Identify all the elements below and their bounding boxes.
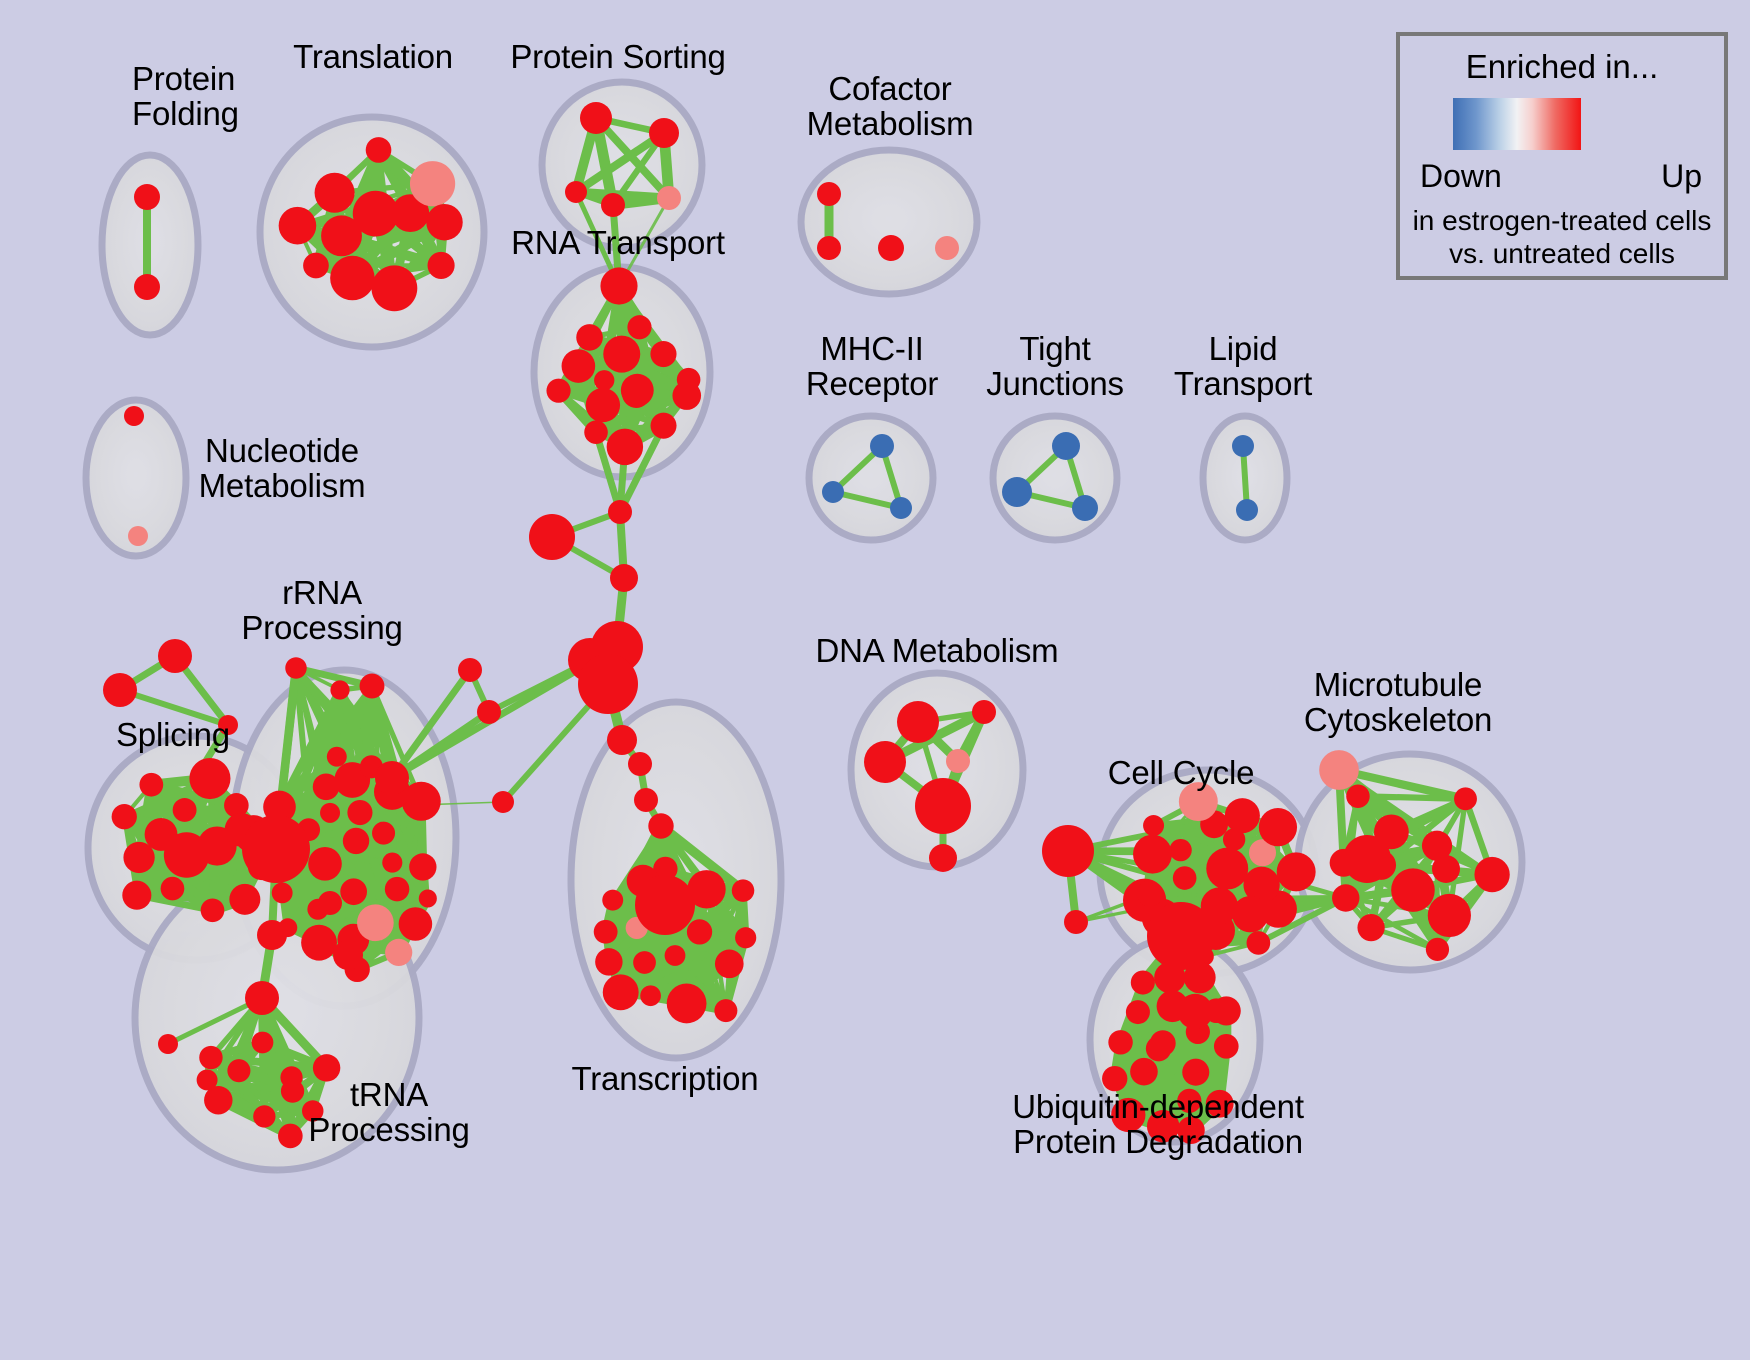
network-node (360, 674, 385, 699)
network-node (409, 853, 436, 880)
network-node (578, 654, 638, 714)
network-figure: ProteinFoldingTranslationProtein Sorting… (0, 0, 1750, 1360)
network-node (385, 939, 412, 966)
network-node (1277, 852, 1316, 891)
network-node (382, 853, 402, 873)
network-node (1052, 432, 1080, 460)
network-node (610, 564, 638, 592)
network-node (584, 420, 608, 444)
network-node (103, 673, 137, 707)
network-node (878, 235, 904, 261)
network-node (321, 215, 362, 256)
network-node (320, 803, 340, 823)
network-node (628, 752, 652, 776)
network-node (1206, 848, 1248, 890)
network-node (330, 256, 375, 301)
cluster-label-ubiquitin: Ubiquitin-dependentProtein Degradation (1012, 1090, 1304, 1160)
network-node (189, 758, 230, 799)
network-node (375, 761, 409, 795)
network-node (303, 253, 329, 279)
network-node (385, 877, 410, 902)
network-node (1130, 1058, 1158, 1086)
cluster-label-transcription: Transcription (572, 1062, 759, 1097)
network-node (399, 907, 433, 941)
network-node (935, 236, 959, 260)
legend-high-label: Up (1661, 158, 1702, 195)
network-node (1225, 798, 1260, 833)
network-node (1247, 931, 1271, 955)
network-node (315, 173, 355, 213)
network-node (732, 879, 754, 901)
network-node (602, 890, 623, 911)
cluster-hull (993, 416, 1117, 540)
network-node (633, 951, 656, 974)
network-node (870, 434, 894, 458)
network-node (1428, 894, 1471, 937)
network-node (565, 181, 587, 203)
network-node (158, 1034, 178, 1054)
cluster-hull (809, 416, 933, 540)
network-node (1133, 835, 1172, 874)
network-node (357, 904, 394, 941)
network-node (529, 514, 575, 560)
network-node (242, 815, 310, 883)
network-node (1169, 839, 1191, 861)
network-node (1108, 1030, 1132, 1054)
network-node (318, 891, 342, 915)
network-node (1236, 499, 1258, 521)
network-node (665, 945, 686, 966)
network-node (1173, 866, 1197, 890)
network-node (308, 847, 342, 881)
cluster-label-tight-junctions: TightJunctions (986, 332, 1124, 402)
network-node (134, 184, 160, 210)
network-node (1214, 1034, 1239, 1059)
network-node (1042, 825, 1094, 877)
network-node (1212, 996, 1241, 1025)
network-node (1474, 857, 1509, 892)
network-node (257, 920, 287, 950)
edge (1358, 796, 1466, 799)
network-node (410, 161, 455, 206)
network-node (1332, 884, 1359, 911)
network-node (428, 252, 455, 279)
network-node (492, 791, 514, 813)
network-node (595, 948, 622, 975)
network-node (158, 639, 192, 673)
network-node (608, 500, 632, 524)
network-node (650, 341, 676, 367)
network-node (1146, 1036, 1171, 1061)
network-node (576, 324, 603, 351)
network-node (333, 940, 363, 970)
network-node (715, 949, 744, 978)
cluster-label-translation: Translation (293, 40, 453, 75)
cluster-label-cofactor-metabolism: CofactorMetabolism (807, 72, 974, 142)
network-node (134, 274, 160, 300)
network-node (600, 267, 637, 304)
cluster-label-trna-processing: tRNAProcessing (308, 1078, 469, 1148)
network-node (139, 773, 163, 797)
network-node (915, 778, 971, 834)
network-node (714, 999, 737, 1022)
legend-subtitle: in estrogen-treated cells vs. untreated … (1400, 204, 1724, 270)
network-node (281, 1079, 304, 1102)
network-node (1178, 994, 1213, 1029)
network-node (640, 985, 661, 1006)
network-node (1232, 896, 1268, 932)
network-node (1346, 784, 1369, 807)
network-node (253, 1105, 275, 1127)
network-node (278, 1124, 303, 1149)
cluster-label-mhc-ii-receptor: MHC-IIReceptor (806, 332, 938, 402)
network-node (735, 927, 756, 948)
network-node (122, 881, 151, 910)
network-node (1182, 1059, 1209, 1086)
network-node (123, 842, 154, 873)
network-node (371, 265, 417, 311)
network-node (201, 898, 225, 922)
network-node (1223, 828, 1245, 850)
network-node (1147, 902, 1215, 970)
cluster-label-protein-sorting: Protein Sorting (510, 40, 725, 75)
network-node (580, 102, 612, 134)
network-node (649, 118, 679, 148)
network-node (1432, 855, 1460, 883)
network-node (301, 925, 337, 961)
cluster-label-cell-cycle: Cell Cycle (1108, 756, 1255, 791)
network-node (347, 800, 372, 825)
network-node (634, 788, 658, 812)
network-node (1064, 910, 1088, 934)
network-node (1343, 835, 1391, 883)
network-node (603, 974, 639, 1010)
network-node (1232, 435, 1254, 457)
network-node (594, 370, 614, 390)
network-node (458, 658, 482, 682)
network-node (1454, 787, 1477, 810)
network-node (372, 822, 395, 845)
network-node (607, 429, 643, 465)
network-node (946, 749, 970, 773)
network-node (594, 920, 618, 944)
network-node (279, 207, 317, 245)
network-node (621, 374, 654, 407)
network-node (562, 349, 596, 383)
network-node (245, 981, 279, 1015)
network-node (667, 984, 707, 1024)
network-node (199, 1046, 222, 1069)
network-node (197, 1069, 218, 1090)
network-node (327, 747, 347, 767)
network-node (1357, 914, 1384, 941)
network-node (586, 388, 620, 422)
network-node (343, 828, 369, 854)
network-node (648, 813, 673, 838)
network-node (1426, 938, 1449, 961)
network-node (627, 315, 651, 339)
cluster-label-rrna-processing: rRNAProcessing (241, 576, 402, 646)
network-node (124, 406, 144, 426)
legend-box: Enriched in... Down Up in estrogen-treat… (1396, 32, 1728, 280)
network-node (822, 481, 844, 503)
legend-low-label: Down (1420, 158, 1502, 195)
network-node (1126, 1000, 1150, 1024)
network-node (677, 368, 701, 392)
network-node (1184, 962, 1216, 994)
network-node (1137, 880, 1163, 906)
network-node (285, 657, 306, 678)
network-node (1259, 808, 1297, 846)
network-node (173, 798, 197, 822)
network-node (366, 137, 392, 163)
network-node (864, 741, 906, 783)
network-node (817, 236, 841, 260)
cluster-label-rna-transport: RNA Transport (511, 226, 725, 261)
network-node (635, 875, 695, 935)
network-node (128, 526, 148, 546)
network-node (330, 680, 349, 699)
network-node (1154, 962, 1185, 993)
network-node (687, 919, 712, 944)
cluster-label-dna-metabolism: DNA Metabolism (816, 634, 1059, 669)
network-node (890, 497, 912, 519)
network-node (929, 844, 957, 872)
network-node (112, 804, 137, 829)
network-node (340, 878, 367, 905)
network-node (272, 882, 293, 903)
network-node (897, 701, 939, 743)
legend-title: Enriched in... (1400, 48, 1724, 86)
network-node (603, 336, 640, 373)
network-node (419, 889, 437, 907)
network-node (1002, 477, 1032, 507)
network-node (601, 193, 625, 217)
network-node (1319, 750, 1359, 790)
cluster-label-lipid-transport: LipidTransport (1174, 332, 1312, 402)
network-node (426, 204, 462, 240)
cluster-label-splicing: Splicing (116, 718, 230, 753)
network-node (1143, 815, 1164, 836)
cluster-label-nucleotide-metabolism: NucleotideMetabolism (199, 434, 366, 504)
network-node (1072, 495, 1098, 521)
network-node (229, 884, 260, 915)
network-node (607, 725, 637, 755)
network-node (1131, 971, 1155, 995)
network-node (252, 1032, 274, 1054)
network-node (657, 186, 681, 210)
network-node (972, 700, 996, 724)
cluster-label-protein-folding: ProteinFolding (132, 62, 239, 132)
legend-subtitle-line1: in estrogen-treated cells (1400, 204, 1724, 237)
network-node (651, 413, 677, 439)
network-node (817, 182, 841, 206)
network-node (161, 877, 185, 901)
cluster-label-microtubule: MicrotubuleCytoskeleton (1304, 668, 1492, 738)
network-node (477, 700, 501, 724)
legend-color-gradient (1453, 98, 1581, 150)
network-node (1391, 868, 1435, 912)
network-node (546, 379, 570, 403)
legend-subtitle-line2: vs. untreated cells (1400, 237, 1724, 270)
network-node (227, 1059, 250, 1082)
